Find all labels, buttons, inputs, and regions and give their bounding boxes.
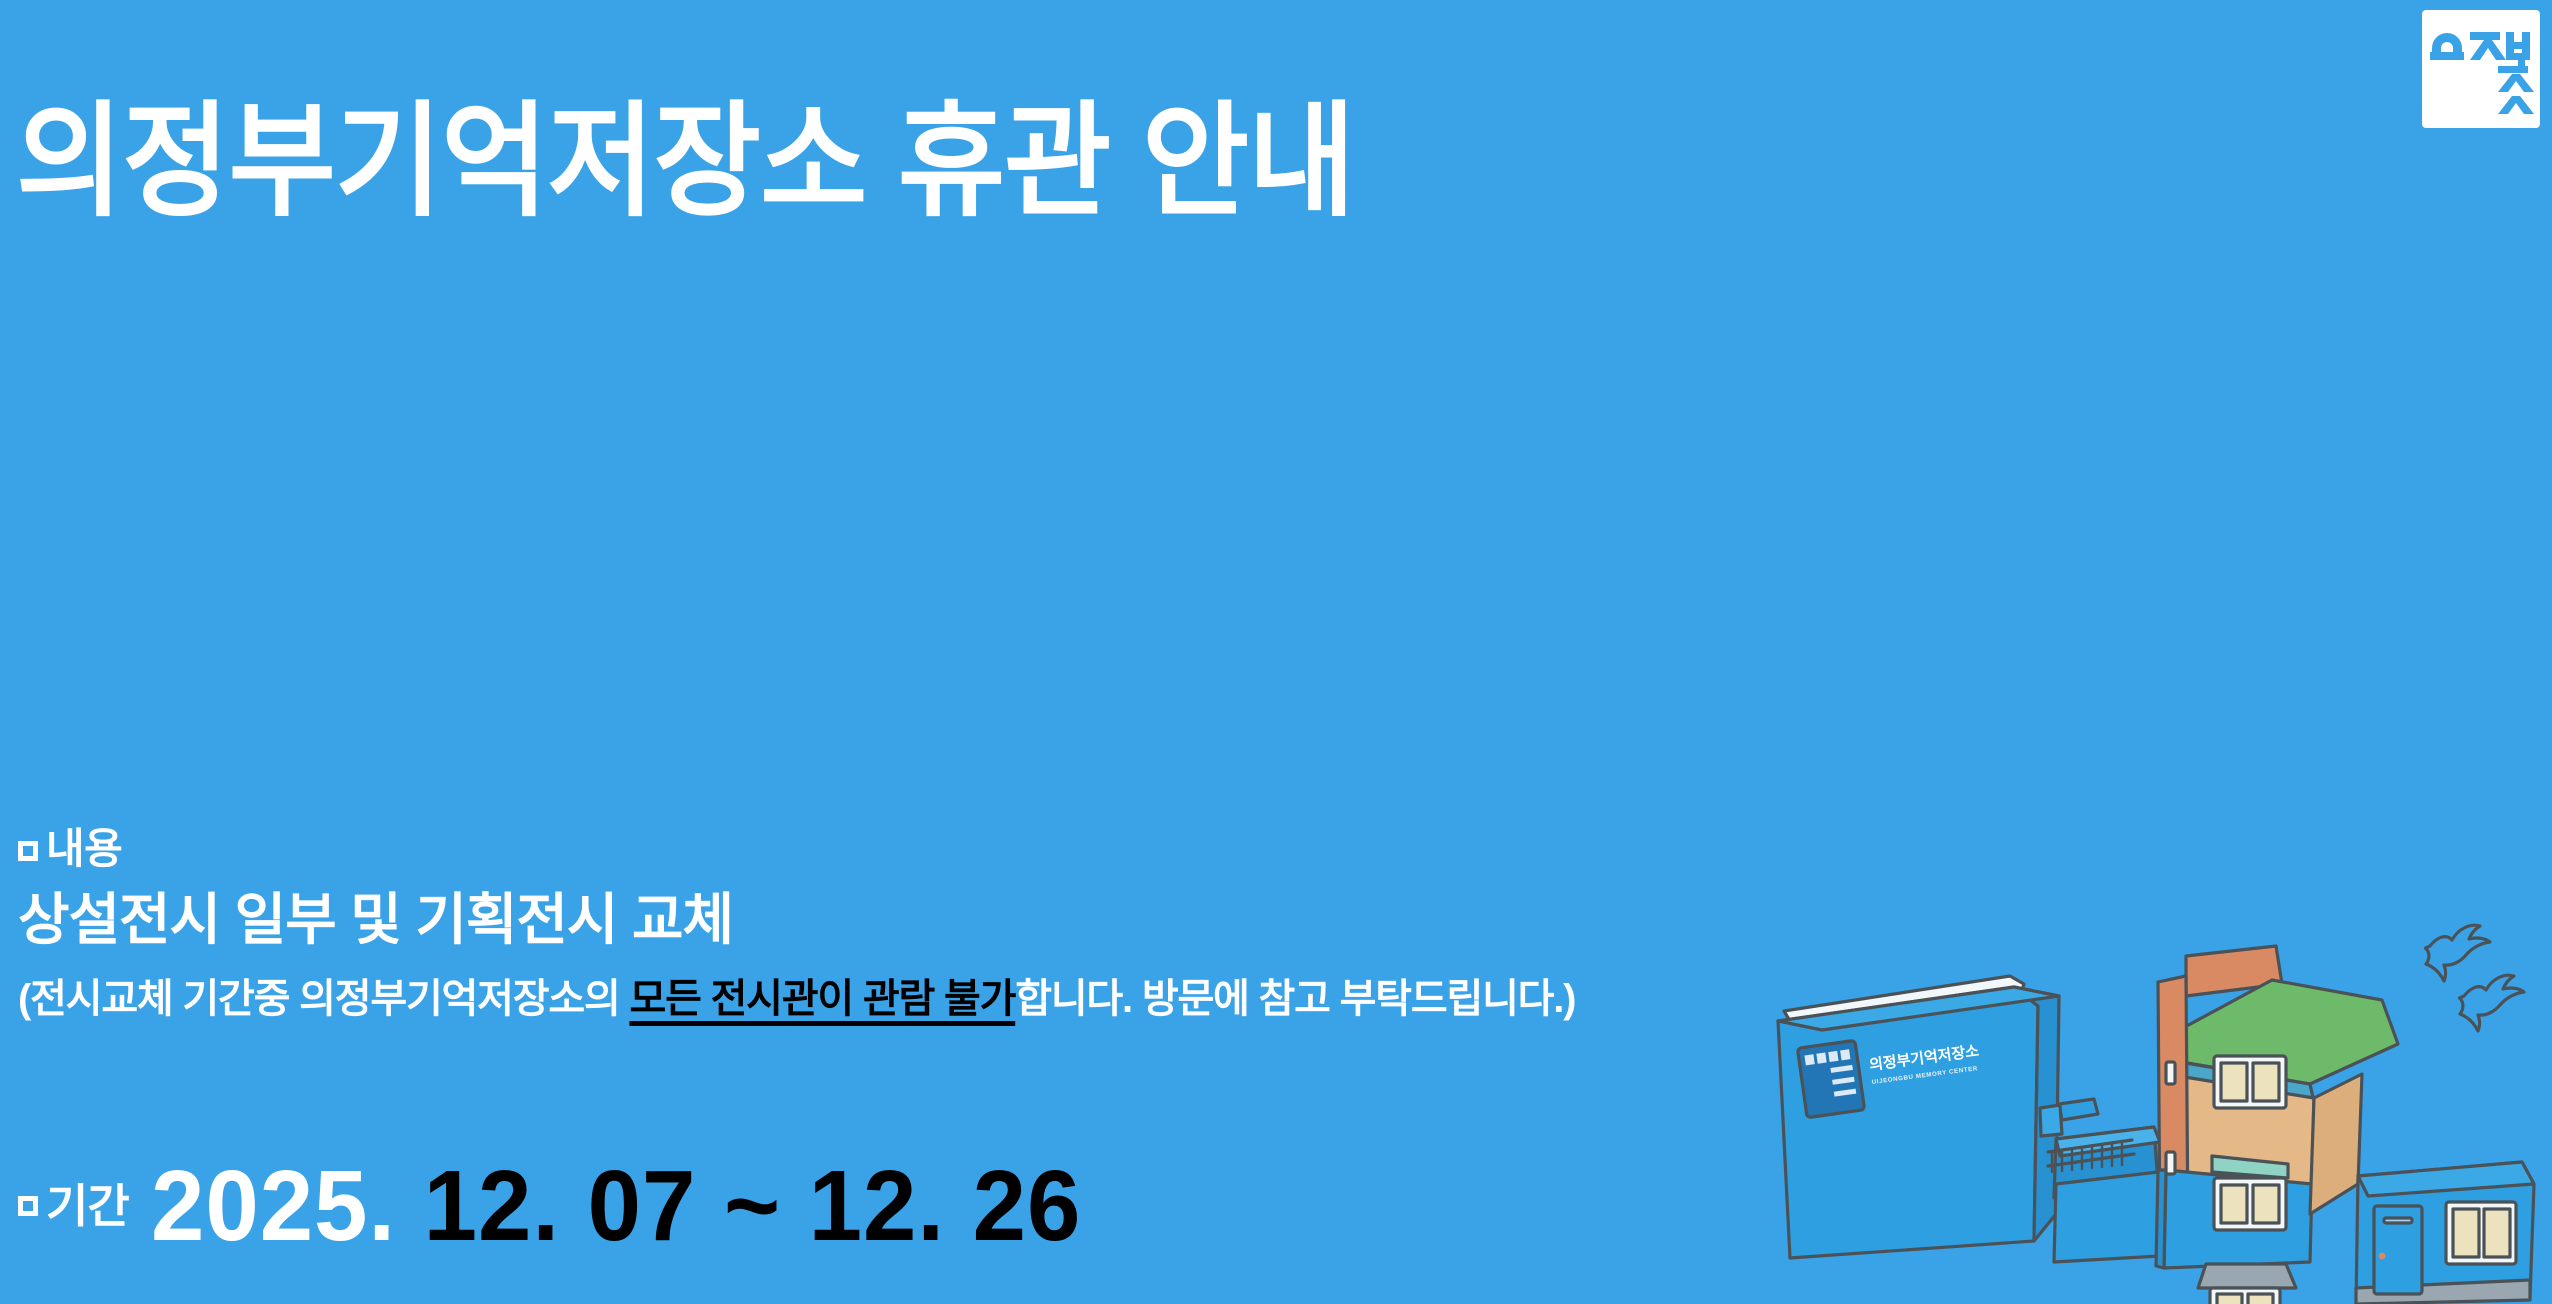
period-section: 기간 2025. 12. 07 ~ 12. 26 — [18, 1156, 1120, 1256]
page-title: 의정부기억저장소 휴관 안내 — [16, 93, 1354, 232]
content-headline: 상설전시 일부 및 기획전시 교체 — [18, 892, 2018, 948]
content-note: (전시교체 기간중 의정부기억저장소의 모든 전시관이 관람 불가합니다. 방문… — [18, 978, 2018, 1020]
uijeongbu-memory-center-logo — [2422, 10, 2540, 128]
poster-canvas: 의정부기억저장소 휴관 안내 내용 상설전시 일부 및 기획전시 교체 (전시교… — [0, 0, 2552, 1304]
period-label: 기간 — [46, 1183, 129, 1229]
content-label-row: 내용 — [18, 828, 2018, 870]
building-sign-english: UIJEONGBU MEMORY CENTER — [1871, 1065, 1978, 1086]
building-sign-korean: 의정부기억저장소 — [1868, 1042, 1980, 1074]
period-value: 2025. 12. 07 ~ 12. 26 — [151, 1156, 1081, 1256]
square-bullet-icon — [18, 1196, 38, 1216]
bird-icon — [2426, 925, 2491, 981]
content-label: 내용 — [46, 828, 122, 870]
square-bullet-icon — [18, 841, 38, 861]
note-emphasis: 모든 전시관이 관람 불가 — [629, 977, 1015, 1021]
note-suffix: 합니다. 방문에 참고 부탁드립니다.) — [1015, 977, 1575, 1021]
note-prefix: (전시교체 기간중 의정부기억저장소의 — [18, 977, 629, 1021]
bird-icon — [2460, 975, 2525, 1031]
content-section: 내용 상설전시 일부 및 기획전시 교체 (전시교체 기간중 의정부기억저장소의… — [18, 828, 2018, 1020]
period-year: 2025. — [151, 1150, 396, 1262]
period-range: 12. 07 ~ 12. 26 — [423, 1150, 1081, 1262]
